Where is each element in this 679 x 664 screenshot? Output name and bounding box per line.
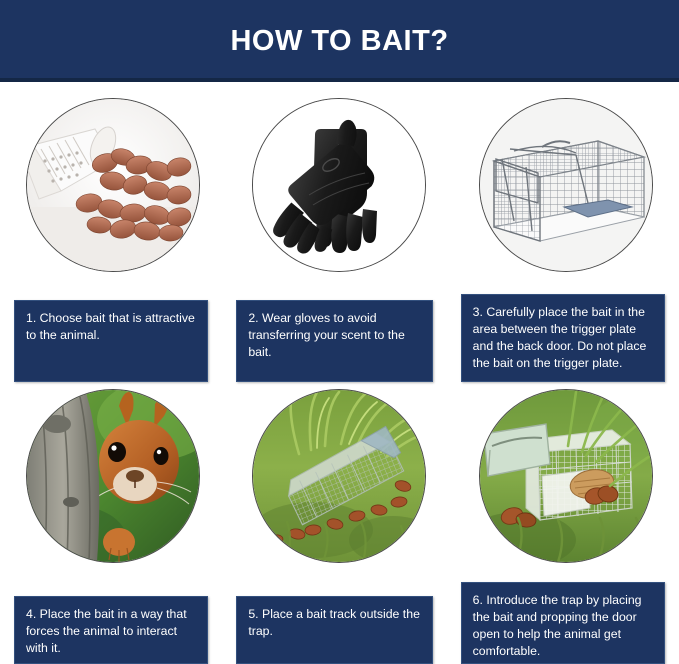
step-caption-4: 4. Place the bait in a way that forces t… (14, 596, 208, 664)
step-image-1 (26, 98, 200, 272)
step-image-5 (252, 389, 426, 563)
step-card-1: 1. Choose bait that is attractive to the… (0, 82, 226, 373)
step-caption-3: 3. Carefully place the bait in the area … (461, 294, 665, 382)
infographic-page: HOW TO BAIT? (0, 0, 679, 664)
step-card-5: 5. Place a bait track outside the trap. (226, 373, 452, 664)
steps-grid: 1. Choose bait that is attractive to the… (0, 82, 679, 664)
step-image-2 (252, 98, 426, 272)
step-caption-1: 1. Choose bait that is attractive to the… (14, 300, 208, 382)
step-card-4: 4. Place the bait in a way that forces t… (0, 373, 226, 664)
step-image-3 (479, 98, 653, 272)
step-card-2: 2. Wear gloves to avoid transferring you… (226, 82, 452, 373)
page-header: HOW TO BAIT? (0, 0, 679, 82)
step-caption-5: 5. Place a bait track outside the trap. (236, 596, 432, 664)
step-caption-2: 2. Wear gloves to avoid transferring you… (236, 300, 432, 382)
step-card-6: 6. Introduce the trap by placing the bai… (453, 373, 679, 664)
step-card-3: 3. Carefully place the bait in the area … (453, 82, 679, 373)
page-title: HOW TO BAIT? (230, 27, 448, 56)
step-image-6 (479, 389, 653, 563)
step-image-4 (26, 389, 200, 563)
step-caption-6: 6. Introduce the trap by placing the bai… (461, 582, 665, 664)
